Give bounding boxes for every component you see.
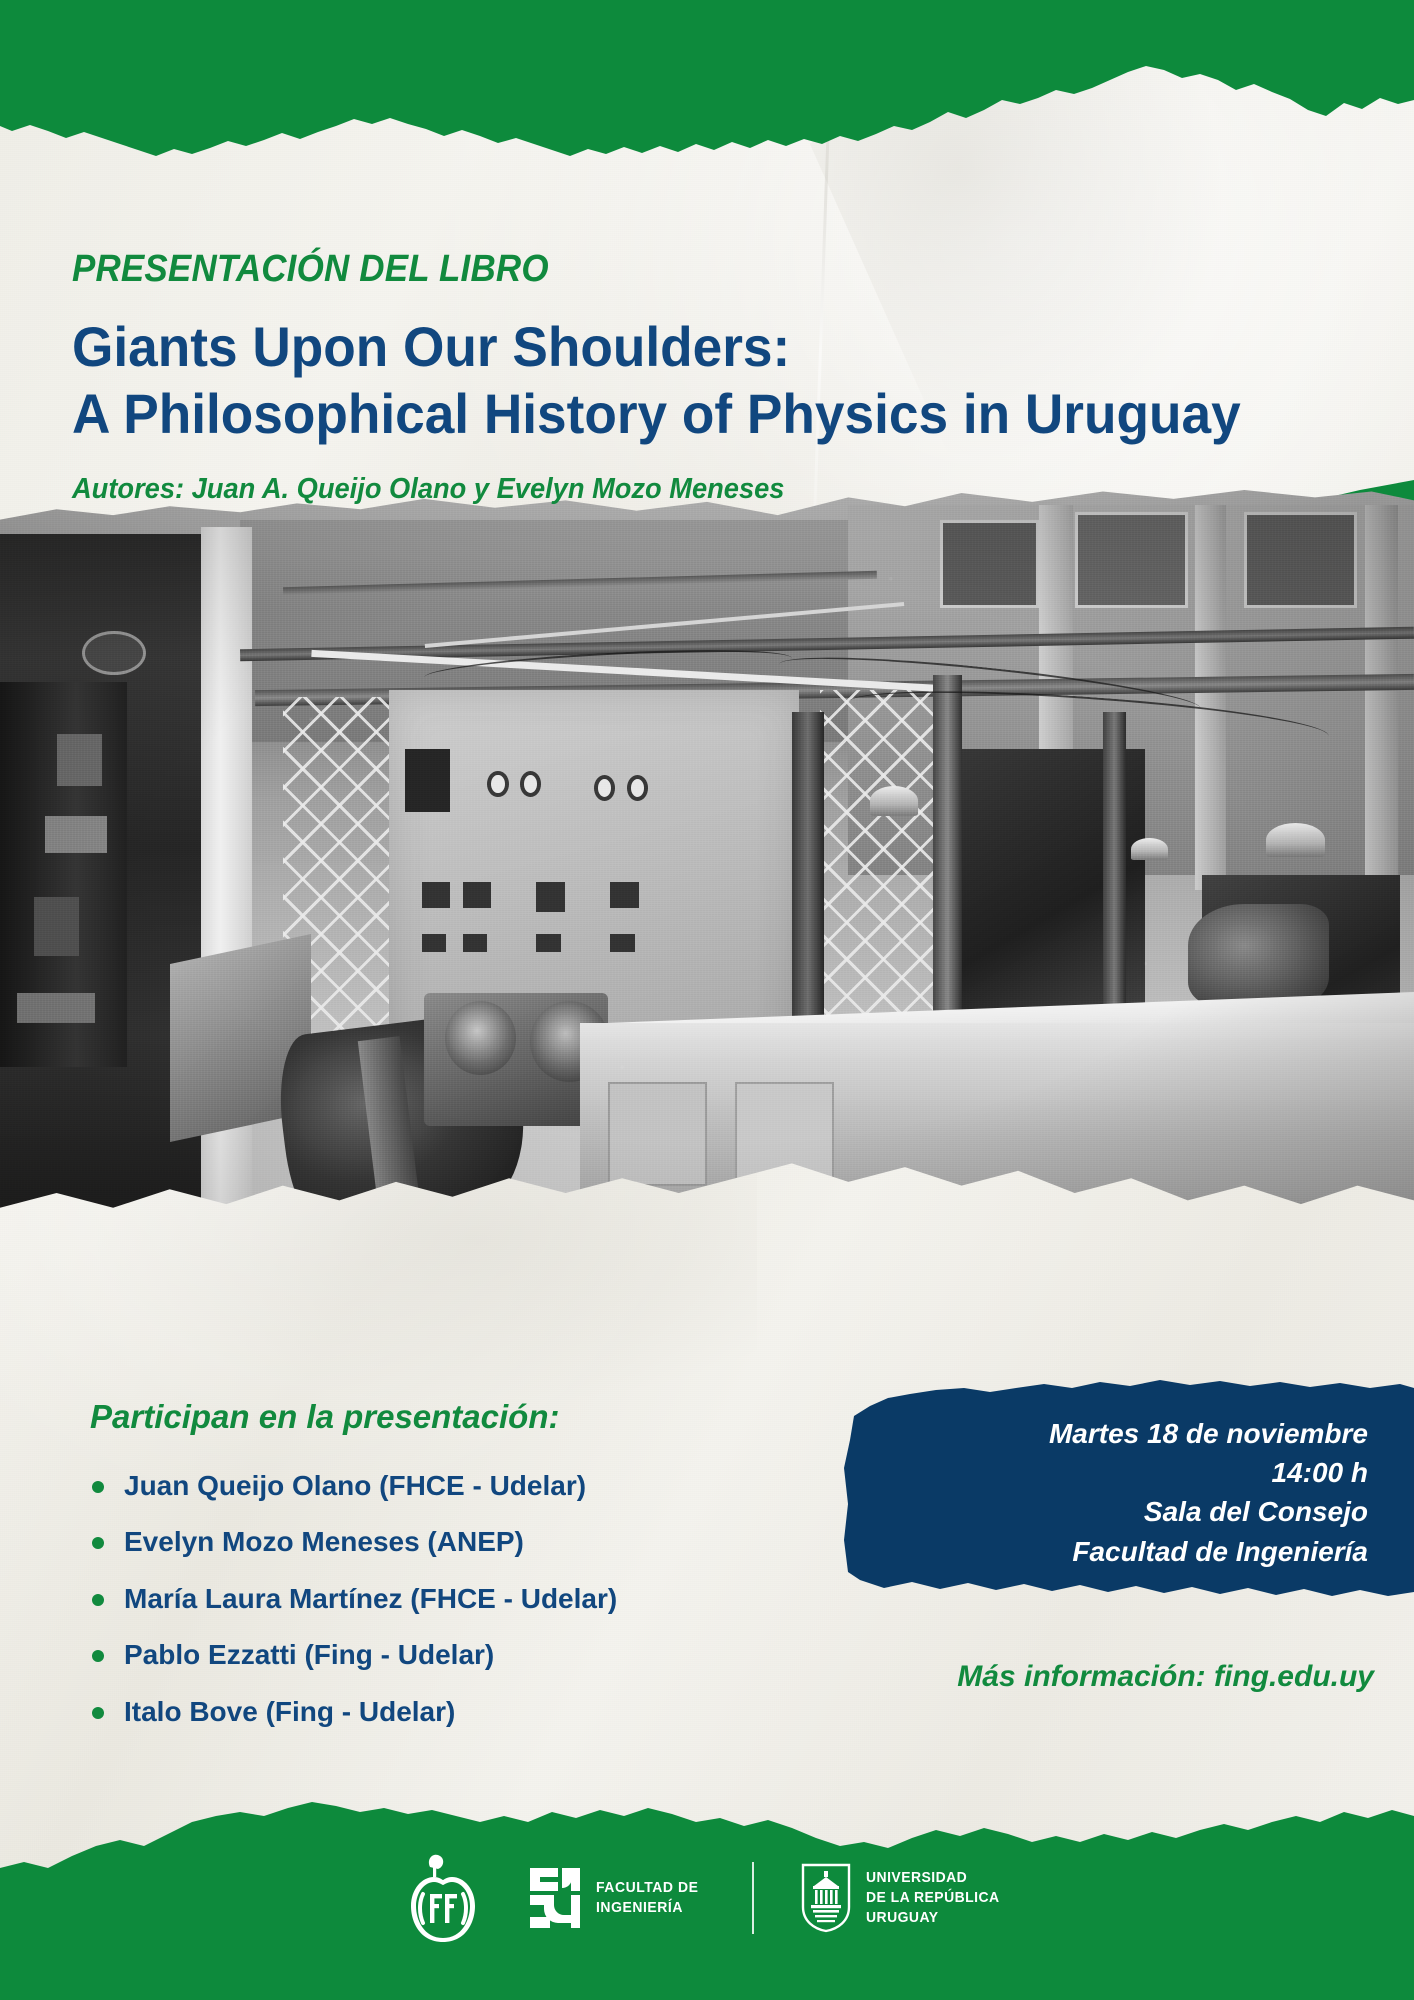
fing-text-line-1: FACULTAD DE bbox=[596, 1878, 698, 1898]
facultad-ingenieria-logo: FACULTAD DE INGENIERÍA bbox=[528, 1865, 706, 1931]
udelar-text-line-2: DE LA REPÚBLICA bbox=[866, 1888, 1000, 1908]
list-item: Italo Bove (Fing - Udelar) bbox=[90, 1696, 780, 1728]
event-date: Martes 18 de noviembre bbox=[938, 1414, 1368, 1453]
event-info-box: Martes 18 de noviembre 14:00 h Sala del … bbox=[840, 1380, 1414, 1600]
event-room: Sala del Consejo bbox=[938, 1492, 1368, 1531]
header-block: PRESENTACIÓN DEL LIBRO Giants Upon Our S… bbox=[72, 248, 1352, 506]
lower-content: Participan en la presentación: Juan Quei… bbox=[0, 1380, 1414, 1800]
fing-mark-icon bbox=[528, 1865, 582, 1931]
list-item: Evelyn Mozo Meneses (ANEP) bbox=[90, 1526, 780, 1558]
authors-label: Autores: Juan A. Queijo Olano y Evelyn M… bbox=[72, 473, 1275, 506]
fing-logo-text: FACULTAD DE INGENIERÍA bbox=[596, 1878, 698, 1918]
participants-section: Participan en la presentación: Juan Quei… bbox=[90, 1398, 780, 1752]
poster-root: PRESENTACIÓN DEL LIBRO Giants Upon Our S… bbox=[0, 0, 1414, 2000]
more-info-link[interactable]: Más información: fing.edu.uy bbox=[840, 1660, 1374, 1694]
event-venue: Facultad de Ingeniería bbox=[938, 1532, 1368, 1571]
udelar-logo: UNIVERSIDAD DE LA REPÚBLICA URUGUAY bbox=[800, 1863, 1010, 1933]
page-title: Giants Upon Our Shoulders: A Philosophic… bbox=[72, 313, 1288, 447]
udelar-text-line-1: UNIVERSIDAD bbox=[866, 1868, 1000, 1888]
kicker-label: PRESENTACIÓN DEL LIBRO bbox=[72, 248, 1250, 291]
list-item: Pablo Ezzatti (Fing - Udelar) bbox=[90, 1639, 780, 1671]
event-time: 14:00 h bbox=[938, 1453, 1368, 1492]
logo-divider bbox=[752, 1862, 754, 1934]
participants-heading: Participan en la presentación: bbox=[90, 1398, 780, 1436]
fing-text-line-2: INGENIERÍA bbox=[596, 1898, 698, 1918]
historic-laboratory-photo bbox=[0, 490, 1414, 1230]
list-item: María Laura Martínez (FHCE - Udelar) bbox=[90, 1583, 780, 1615]
footer-logos: FACULTAD DE INGENIERÍA bbox=[0, 1850, 1414, 1946]
list-item: Juan Queijo Olano (FHCE - Udelar) bbox=[90, 1470, 780, 1502]
title-line-2: A Philosophical History of Physics in Ur… bbox=[72, 380, 1288, 447]
title-line-1: Giants Upon Our Shoulders: bbox=[72, 313, 1288, 380]
udelar-logo-text: UNIVERSIDAD DE LA REPÚBLICA URUGUAY bbox=[866, 1868, 1000, 1928]
udelar-shield-icon bbox=[800, 1863, 852, 1933]
iffi-logo bbox=[404, 1850, 482, 1946]
udelar-text-line-3: URUGUAY bbox=[866, 1908, 1000, 1928]
participants-list: Juan Queijo Olano (FHCE - Udelar) Evelyn… bbox=[90, 1470, 780, 1728]
event-details: Martes 18 de noviembre 14:00 h Sala del … bbox=[938, 1414, 1368, 1571]
top-green-band bbox=[0, 0, 1414, 170]
